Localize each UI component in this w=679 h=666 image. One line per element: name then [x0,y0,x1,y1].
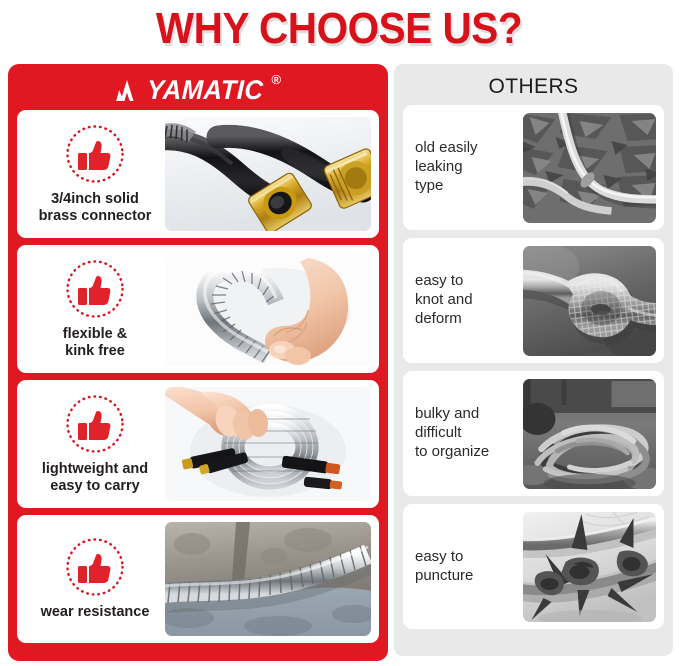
others-header: OTHERS [399,69,668,105]
feature-card: flexible & kink free [17,245,379,373]
feature-card: 3/4inch solid brass connector [17,110,379,238]
knotted-hose-photo [523,246,656,356]
other-card: easy to puncture [403,504,664,629]
brand-logo: YAMATIC ® [14,70,382,110]
leaking-hose-in-mulch-photo [523,113,656,223]
other-label: easy to knot and deform [411,272,523,328]
other-card: easy to knot and deform [403,238,664,363]
feature-caption-block: lightweight and easy to carry [25,393,165,495]
others-title: OTHERS [489,75,579,99]
thumbs-up-icon [64,536,126,598]
brand-panel: YAMATIC ® 3/4inch solid brass c [8,64,388,661]
other-label: bulky and difficult to organize [411,405,523,461]
feature-list: 3/4inch solid brass connector [14,110,382,646]
feature-card: wear resistance [17,515,379,643]
other-card: old easily leaking type [403,105,664,230]
other-card: bulky and difficult to organize [403,371,664,496]
others-panel: OTHERS old easily leaking type [394,64,673,656]
feature-caption-block: wear resistance [25,536,165,621]
brand-wordmark: YAMATIC [147,75,264,106]
tangled-hose-pile-photo [523,379,656,489]
feature-label: flexible & kink free [63,326,127,360]
feature-label: lightweight and easy to carry [42,461,148,495]
registered-trademark-icon: ® [271,72,281,87]
feature-caption-block: flexible & kink free [25,258,165,360]
feature-card: lightweight and easy to carry [17,380,379,508]
others-list: old easily leaking type [399,105,668,629]
page-title: WHY CHOOSE US? [156,4,522,54]
other-label: old easily leaking type [411,139,523,195]
other-label: easy to puncture [411,548,523,586]
feature-label: 3/4inch solid brass connector [39,191,152,225]
steel-hose-on-concrete-photo [165,522,371,636]
hand-holding-flexible-steel-hose-photo [165,252,371,366]
thumbs-up-icon [64,258,126,320]
black-hose-brass-connectors-photo [165,117,371,231]
thumbs-up-icon [64,123,126,185]
feature-caption-block: 3/4inch solid brass connector [25,123,165,225]
hand-carrying-coiled-steel-hose-photo [165,387,371,501]
yamatic-mountain-mark-icon [115,80,139,101]
comparison-container: YAMATIC ® 3/4inch solid brass c [0,58,679,666]
feature-label: wear resistance [41,604,150,621]
page-title-bar: WHY CHOOSE US? [0,0,679,58]
thumbs-up-icon [64,393,126,455]
thorns-puncture-photo [523,512,656,622]
